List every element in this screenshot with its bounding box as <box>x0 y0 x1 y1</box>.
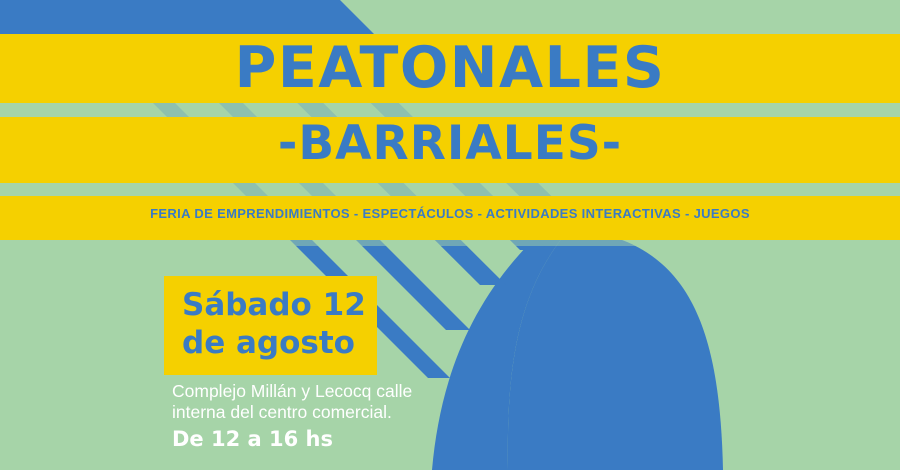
poster-title-primary: PEATONALES <box>0 37 900 99</box>
gap-veil-2 <box>0 183 900 196</box>
event-hours: De 12 a 16 hs <box>172 427 333 452</box>
event-venue-line2: interna del centro comercial. <box>172 402 502 423</box>
gap-veil-3 <box>0 240 900 246</box>
date-highlight-box: Sábado 12 de agosto <box>164 276 377 375</box>
poster-title-secondary: -BARRIALES- <box>0 118 900 170</box>
event-date-line1: Sábado 12 <box>182 287 366 323</box>
poster-tagline: FERIA DE EMPRENDIMIENTOS - ESPECTÁCULOS … <box>0 205 900 222</box>
event-venue-line1: Complejo Millán y Lecocq calle <box>172 381 502 402</box>
gap-veil-1 <box>0 103 900 117</box>
event-date: Sábado 12 de agosto <box>182 286 367 362</box>
event-venue: Complejo Millán y Lecocq calle interna d… <box>172 381 502 423</box>
event-date-line2: de agosto <box>182 324 367 362</box>
event-poster: PEATONALES -BARRIALES- FERIA DE EMPRENDI… <box>0 0 900 470</box>
